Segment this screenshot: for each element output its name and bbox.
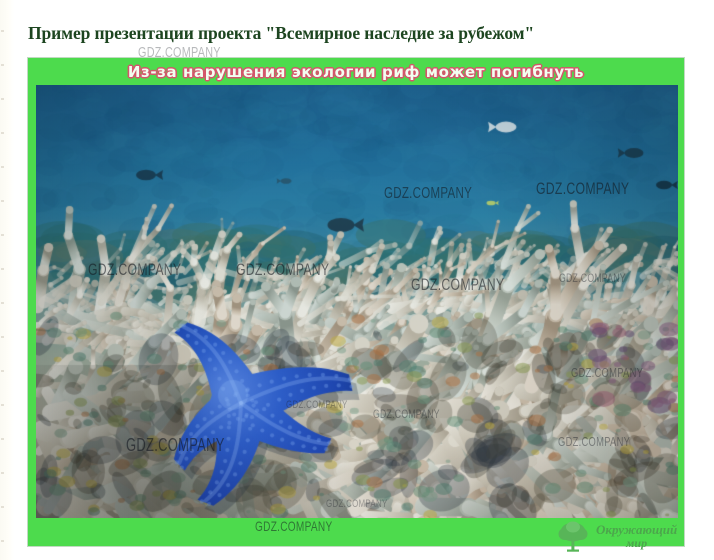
reef-photo: GDZ.COMPANYGDZ.COMPANYGDZ.COMPANYGDZ.COM… <box>36 85 678 518</box>
slide-banner: Из-за нарушения экологии риф может погиб… <box>28 58 684 85</box>
edge-tick <box>1 268 4 270</box>
edge-tick <box>1 370 4 372</box>
page-title: Пример презентации проекта "Всемирное на… <box>28 22 688 44</box>
brand-logo: Окружающий мир <box>556 516 706 556</box>
tree-icon <box>556 519 590 553</box>
edge-tick <box>1 64 4 66</box>
brand-line-2: мир <box>596 537 677 550</box>
edge-tick <box>1 98 4 100</box>
slide-frame: Из-за нарушения экологии риф может погиб… <box>28 58 684 546</box>
edge-tick <box>1 30 4 32</box>
edge-tick <box>1 234 4 236</box>
edge-tick <box>1 200 4 202</box>
edge-tick <box>1 336 4 338</box>
edge-tick <box>1 540 4 542</box>
edge-tick <box>1 404 4 406</box>
brand-line-1: Окружающий <box>596 522 677 537</box>
edge-tick <box>1 438 4 440</box>
slide-banner-text: Из-за нарушения экологии риф может погиб… <box>128 63 584 81</box>
edge-tick <box>1 302 4 304</box>
edge-tick <box>1 132 4 134</box>
brand-name: Окружающий мир <box>596 523 677 550</box>
page-edge-strip <box>0 0 14 560</box>
edge-tick <box>1 472 4 474</box>
edge-tick <box>1 166 4 168</box>
edge-tick <box>1 506 4 508</box>
reef-photo-image <box>36 85 678 518</box>
